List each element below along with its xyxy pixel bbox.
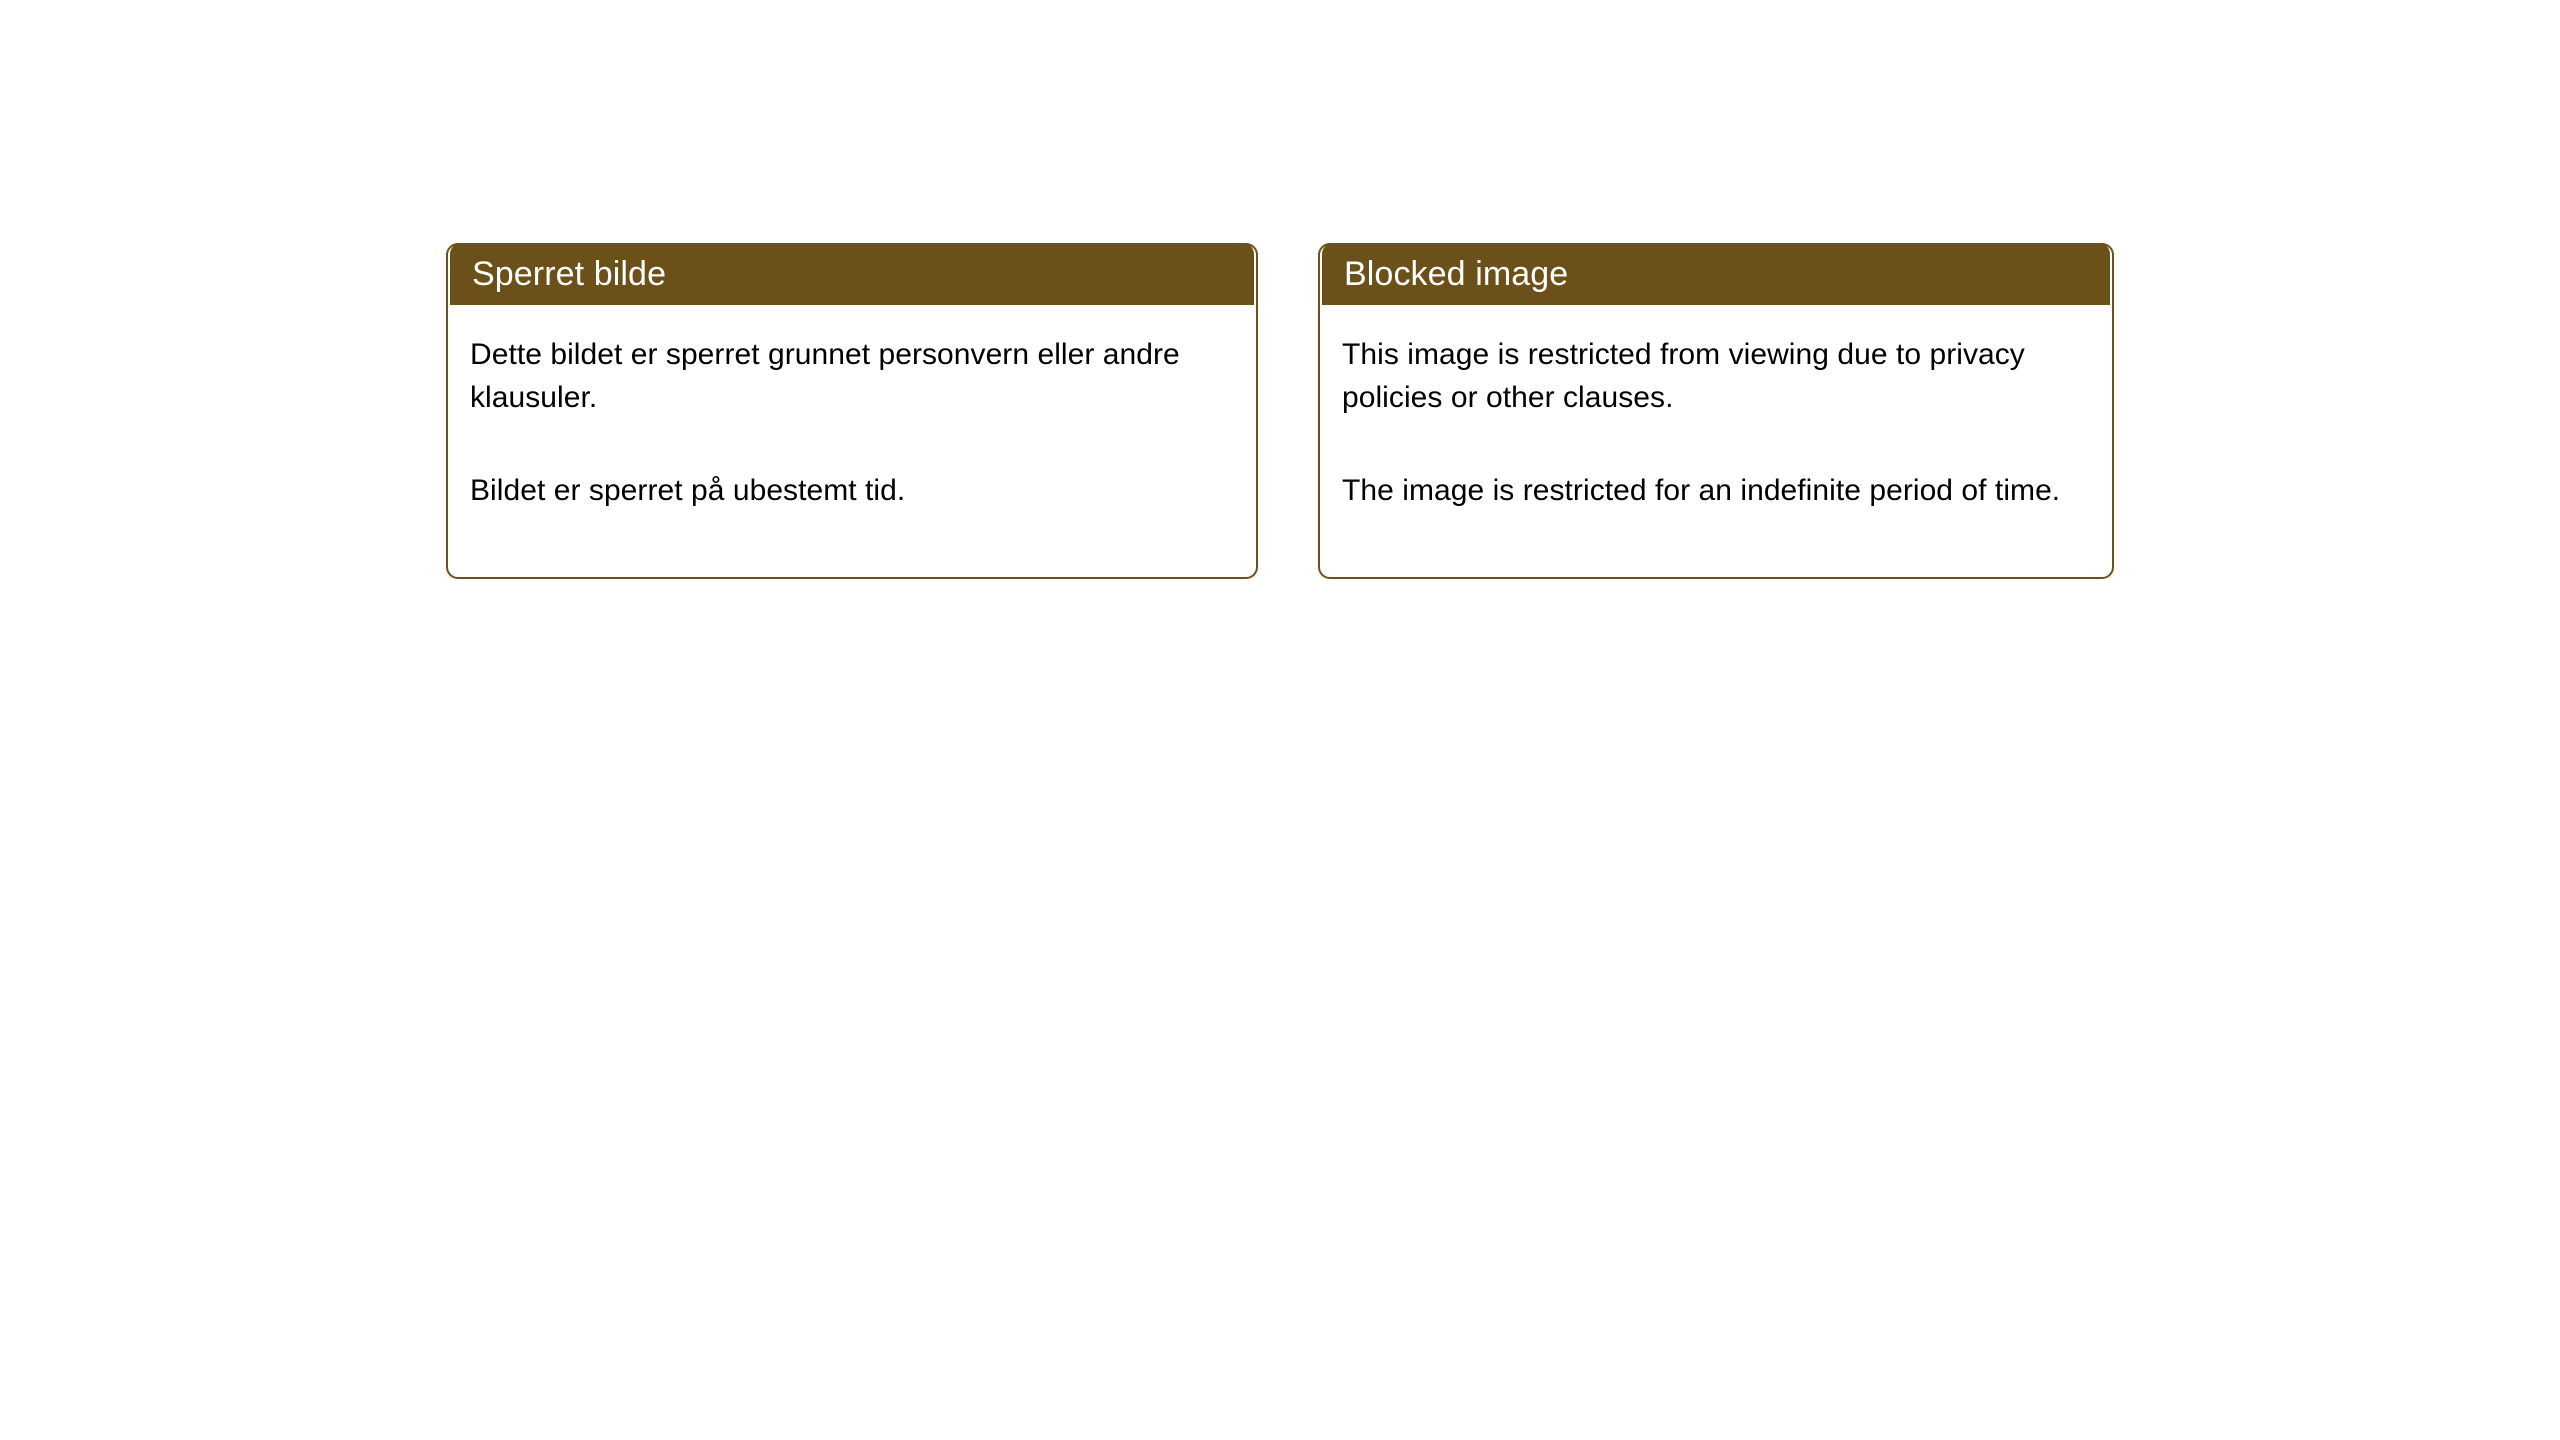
notice-title-norwegian: Sperret bilde [472,257,666,291]
notice-title-english: Blocked image [1344,257,1568,291]
notice-body-norwegian: Dette bildet er sperret grunnet personve… [448,305,1256,577]
blocked-image-notice-card-english: Blocked image This image is restricted f… [1318,243,2114,579]
blocked-image-notice-card-norwegian: Sperret bilde Dette bildet er sperret gr… [446,243,1258,579]
notice-paragraph-secondary-norwegian: Bildet er sperret på ubestemt tid. [470,469,1232,512]
notice-body-english: This image is restricted from viewing du… [1320,305,2112,577]
notice-paragraph-primary-english: This image is restricted from viewing du… [1342,333,2088,419]
notice-paragraph-secondary-english: The image is restricted for an indefinit… [1342,469,2088,512]
page-canvas: Sperret bilde Dette bildet er sperret gr… [0,0,2560,1440]
notice-header-norwegian: Sperret bilde [450,243,1254,305]
notice-header-english: Blocked image [1322,243,2110,305]
notice-paragraph-primary-norwegian: Dette bildet er sperret grunnet personve… [470,333,1232,419]
